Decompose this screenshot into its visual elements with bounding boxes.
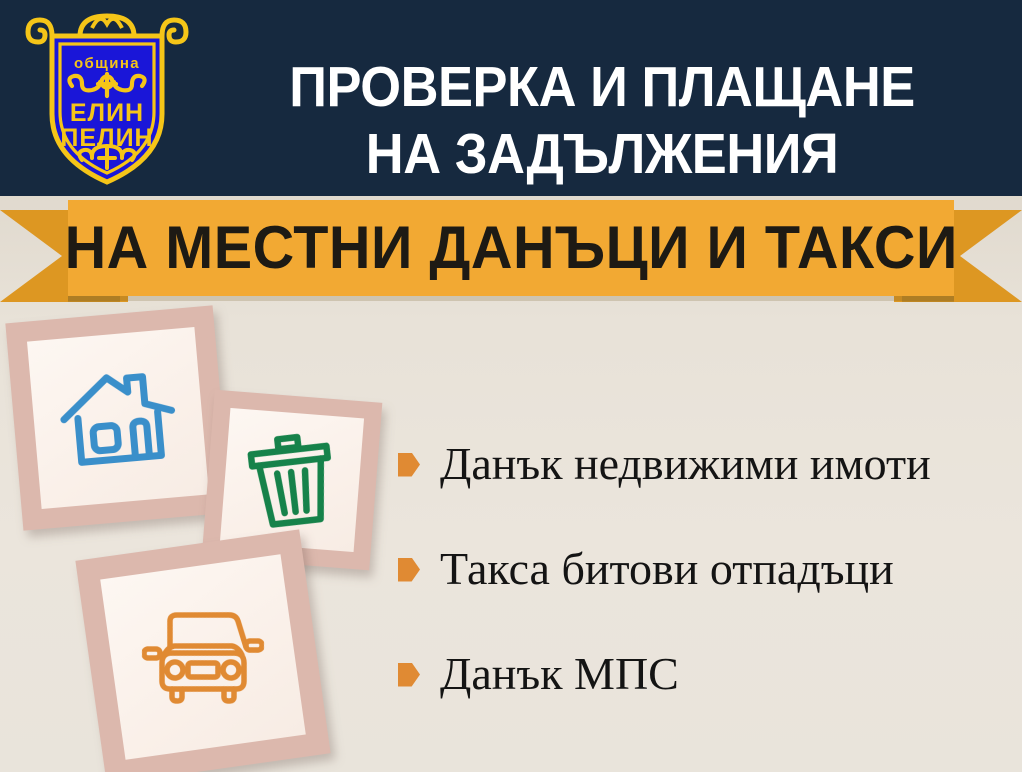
car-front-icon [100, 554, 306, 760]
svg-text:ЕЛИН: ЕЛИН [70, 99, 144, 127]
stamp-inner-panel [100, 554, 306, 760]
header-bar: община ЕЛИН ПЕЛИН [0, 0, 1022, 196]
ribbon-band: НА МЕСТНИ ДАНЪЦИ И ТАКСИ [68, 200, 954, 296]
stamp-illustration-group [0, 296, 420, 772]
stamp-vehicle-car [75, 529, 330, 772]
arrow-bullet-icon [398, 453, 420, 477]
list-item[interactable]: Данък МПС [398, 622, 1018, 727]
list-item[interactable]: Такса битови отпадъци [398, 517, 1018, 622]
list-item-label: Данък МПС [440, 650, 679, 698]
poster-canvas: община ЕЛИН ПЕЛИН [0, 0, 1022, 772]
tax-type-list: Данък недвижими имоти Такса битови отпад… [398, 412, 1018, 727]
page-title: ПРОВЕРКА И ПЛАЩАНЕ НА ЗАДЪЛЖЕНИЯ [228, 54, 975, 187]
list-item[interactable]: Данък недвижими имоти [398, 412, 1018, 517]
subtitle-ribbon: НА МЕСТНИ ДАНЪЦИ И ТАКСИ [0, 196, 1022, 306]
ribbon-text: НА МЕСТНИ ДАНЪЦИ И ТАКСИ [64, 218, 957, 278]
stamp-property-house [5, 305, 230, 530]
elin-pelin-municipality-coat-of-arms: община ЕЛИН ПЕЛИН [22, 6, 192, 192]
house-icon [27, 327, 209, 509]
list-item-label: Такса битови отпадъци [440, 545, 894, 593]
list-item-label: Данък недвижими имоти [440, 440, 931, 488]
stamp-inner-panel [27, 327, 209, 509]
arrow-bullet-icon [398, 558, 420, 582]
arrow-bullet-icon [398, 663, 420, 687]
page-title-line-2: НА ЗАДЪЛЖЕНИЯ [228, 121, 975, 188]
svg-text:община: община [74, 55, 140, 72]
page-title-line-1: ПРОВЕРКА И ПЛАЩАНЕ [228, 54, 975, 121]
